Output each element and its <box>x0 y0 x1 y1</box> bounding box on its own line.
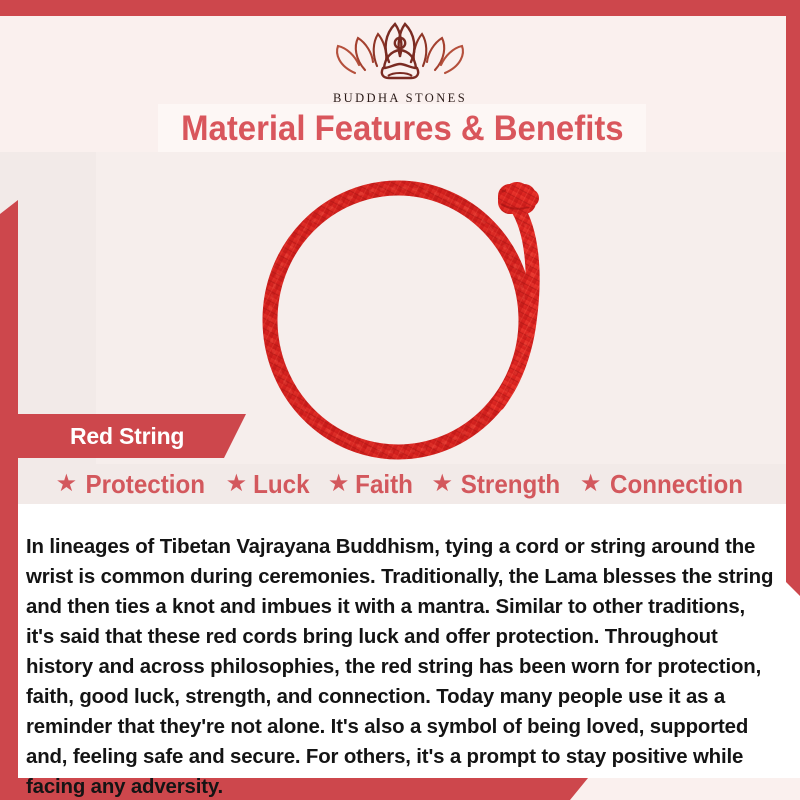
benefit-label: Strength <box>461 471 560 497</box>
benefit-item-luck: ★ Luck <box>219 471 319 497</box>
benefit-item-connection: ★ Connection <box>573 471 756 497</box>
star-icon: ★ <box>432 472 454 496</box>
benefit-label: Faith <box>356 471 414 497</box>
star-icon: ★ <box>580 472 602 496</box>
material-ribbon: Red String <box>18 414 246 458</box>
star-icon: ★ <box>56 472 78 496</box>
benefit-list: ★ Protection ★ Luck ★ Faith ★ Strength ★… <box>18 464 786 504</box>
lotus-meditation-icon <box>0 18 800 89</box>
benefit-item-faith: ★ Faith <box>321 471 423 497</box>
page-title: Material Features & Benefits <box>181 111 623 146</box>
frame-bar-left <box>0 200 18 780</box>
benefit-label: Connection <box>610 471 743 497</box>
page-title-plate: Material Features & Benefits <box>158 104 646 152</box>
product-image <box>240 168 580 468</box>
star-icon: ★ <box>226 472 248 496</box>
material-description: In lineages of Tibetan Vajrayana Buddhis… <box>26 532 778 800</box>
material-ribbon-label: Red String <box>18 423 184 450</box>
brand-block: BUDDHA STONES <box>0 18 800 106</box>
benefit-item-strength: ★ Strength <box>425 471 571 497</box>
frame-bar-top <box>0 0 800 16</box>
star-icon: ★ <box>328 472 350 496</box>
material-features-poster: BUDDHA STONES Material Features & Benefi… <box>0 0 800 800</box>
benefit-label: Protection <box>86 471 206 497</box>
benefit-label: Luck <box>253 471 309 497</box>
benefit-item-protection: ★ Protection <box>49 471 217 497</box>
